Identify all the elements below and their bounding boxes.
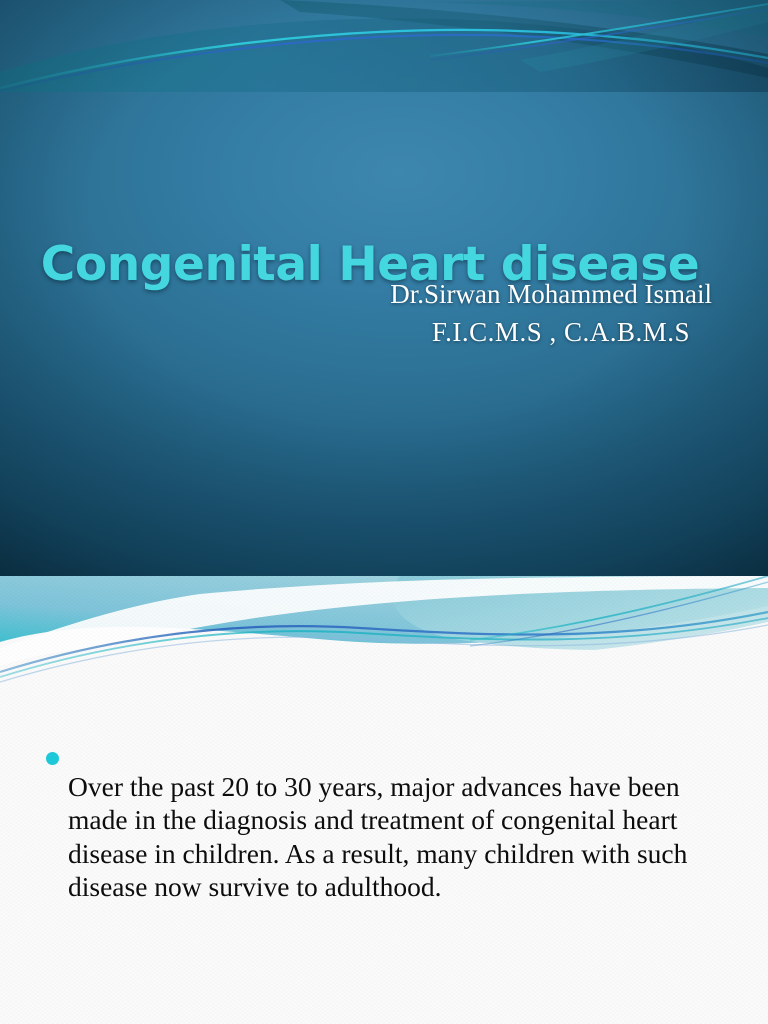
- presenter-credentials: F.I.C.M.S , C.A.B.M.S: [0, 313, 712, 351]
- presenter-name: Dr.Sirwan Mohammed Ismail: [390, 279, 712, 309]
- title-slide: Congenital Heart disease Dr.Sirwan Moham…: [0, 0, 768, 576]
- bullet-dot-icon: [46, 752, 59, 765]
- bullet-text: Over the past 20 to 30 years, major adva…: [68, 770, 736, 904]
- content-slide: Over the past 20 to 30 years, major adva…: [0, 576, 768, 1024]
- list-item: Over the past 20 to 30 years, major adva…: [46, 742, 736, 931]
- header-wave-decoration: [0, 576, 768, 694]
- top-wave-decoration: [0, 0, 768, 92]
- content-body: Over the past 20 to 30 years, major adva…: [46, 742, 736, 931]
- slide-deck: Congenital Heart disease Dr.Sirwan Moham…: [0, 0, 768, 1024]
- presenter-subtitle: Dr.Sirwan Mohammed Ismail F.I.C.M.S , C.…: [0, 275, 712, 351]
